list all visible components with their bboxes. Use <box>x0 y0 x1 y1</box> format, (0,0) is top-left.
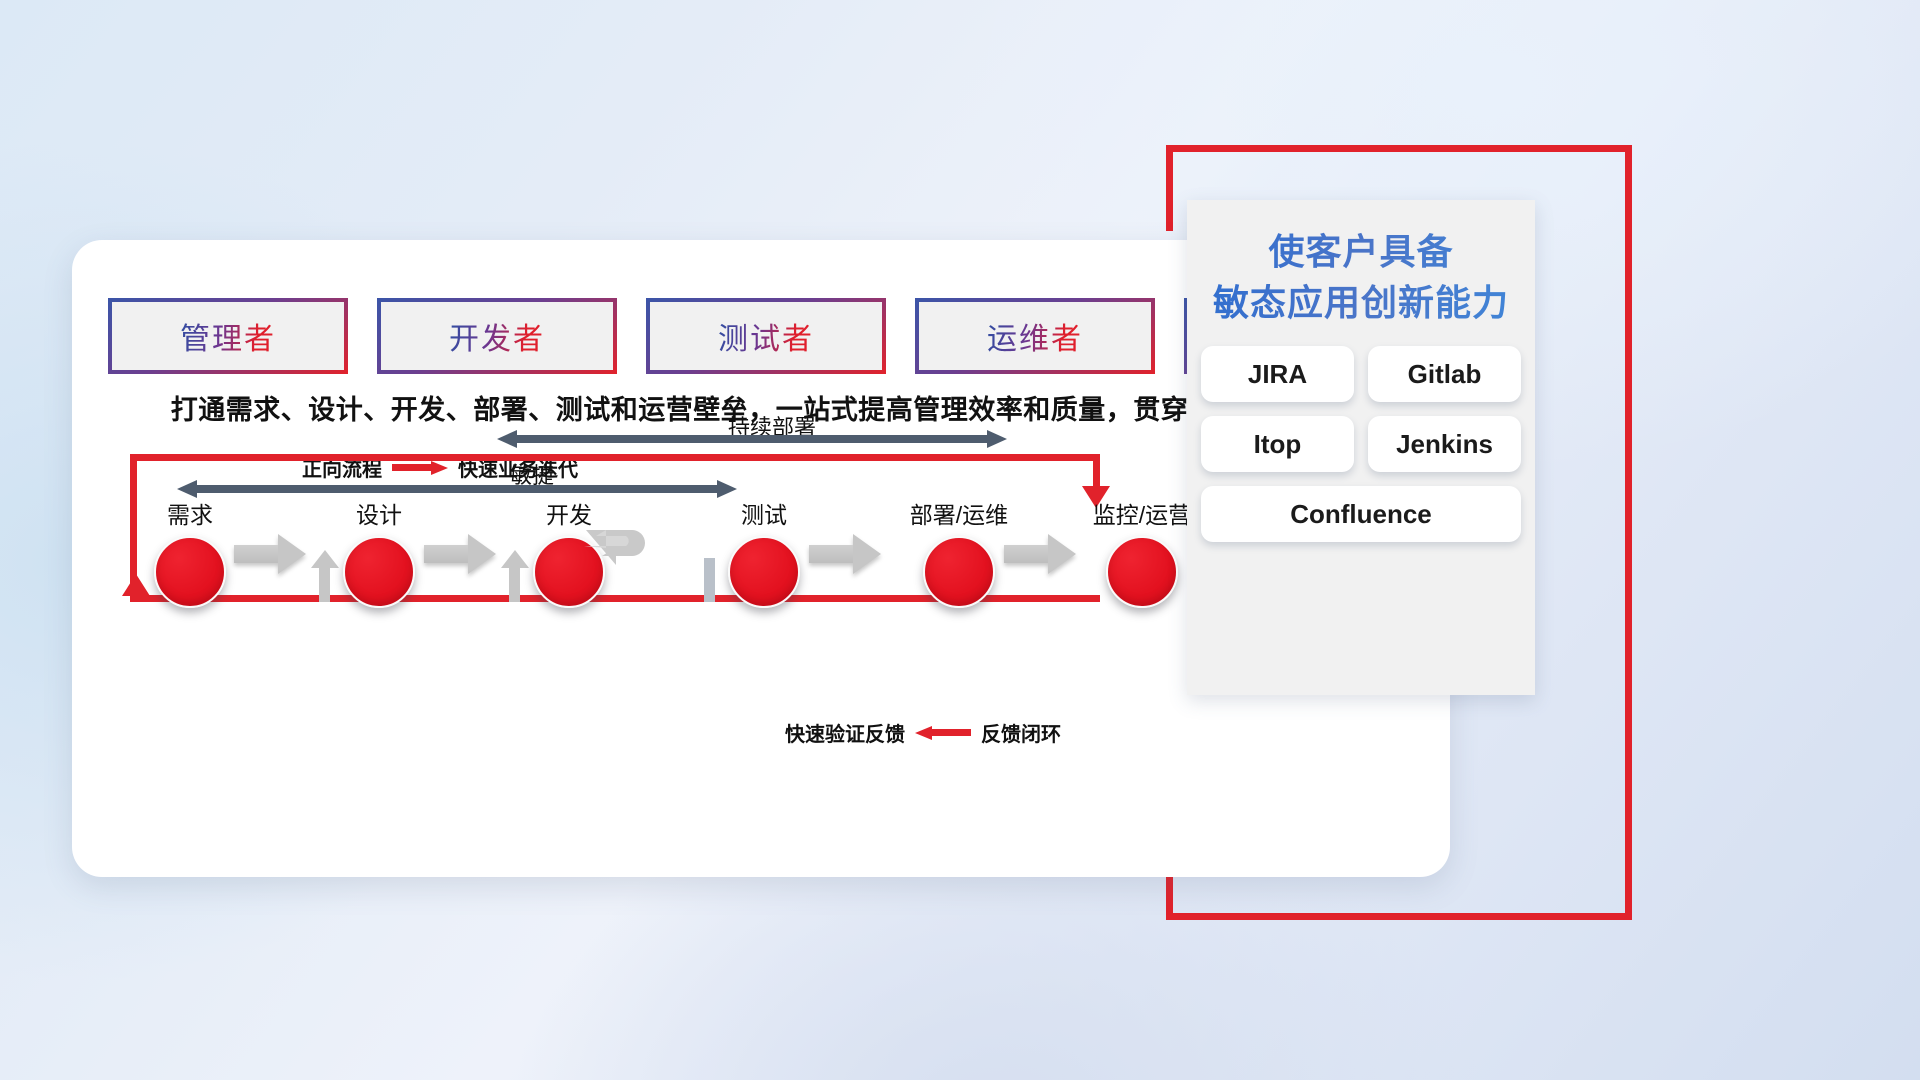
stage-dot <box>923 536 995 608</box>
connector-top-segment <box>1166 145 1632 152</box>
pipeline-stage-design[interactable]: 设计 <box>319 496 439 608</box>
panel-title: 使客户具备 敏态应用创新能力 <box>1195 226 1527 328</box>
stage-dot <box>1106 536 1178 608</box>
pipeline-stage-monitor-operate[interactable]: 监控/运营 <box>1082 496 1202 608</box>
iteration-loopback-arrow-icon <box>580 518 664 570</box>
tool-label: Gitlab <box>1408 359 1482 390</box>
stage-label: 设计 <box>319 496 439 530</box>
stage-dot <box>154 536 226 608</box>
tool-label: Confluence <box>1290 499 1432 530</box>
flow-arrow-1-icon <box>234 534 306 574</box>
pipeline-stage-test[interactable]: 测试 <box>704 496 824 608</box>
flow-arrow-3-icon <box>809 534 881 574</box>
stage-label: 部署/运维 <box>899 496 1019 530</box>
tool-chip-itop[interactable]: Itop <box>1201 416 1354 472</box>
tool-chip-confluence[interactable]: Confluence <box>1201 486 1521 542</box>
stage-label: 测试 <box>704 496 824 530</box>
tool-chip-jira[interactable]: JIRA <box>1201 346 1354 402</box>
panel-title-line-1: 使客户具备 <box>1195 226 1527 277</box>
tool-label: Itop <box>1254 429 1302 460</box>
tool-chip-jenkins[interactable]: Jenkins <box>1368 416 1521 472</box>
pipeline-stage-deploy-ops[interactable]: 部署/运维 <box>899 496 1019 608</box>
stage-dot <box>343 536 415 608</box>
flow-arrow-4-icon <box>1004 534 1076 574</box>
slide-canvas: 管理者 开发者 测试者 运维者 运营者 打通需求、设计、开发、部署、测试和运营壁… <box>0 0 1920 1080</box>
stage-label: 需求 <box>130 496 250 530</box>
pipeline-stage-requirement[interactable]: 需求 <box>130 496 250 608</box>
connector-right-segment <box>1625 145 1632 920</box>
tool-label: JIRA <box>1248 359 1307 390</box>
value-proposition-panel: 使客户具备 敏态应用创新能力 JIRA Gitlab Itop Jenkins … <box>1187 200 1535 695</box>
tool-chip-group: JIRA Gitlab Itop Jenkins Confluence <box>1187 328 1535 542</box>
flow-arrow-2-icon <box>424 534 496 574</box>
connector-left-segment <box>1166 145 1173 231</box>
stage-dot <box>728 536 800 608</box>
panel-title-line-2: 敏态应用创新能力 <box>1195 277 1527 328</box>
tool-label: Jenkins <box>1396 429 1493 460</box>
stage-label: 监控/运营 <box>1082 496 1202 530</box>
connector-bottom-segment <box>1166 913 1632 920</box>
tool-chip-gitlab[interactable]: Gitlab <box>1368 346 1521 402</box>
